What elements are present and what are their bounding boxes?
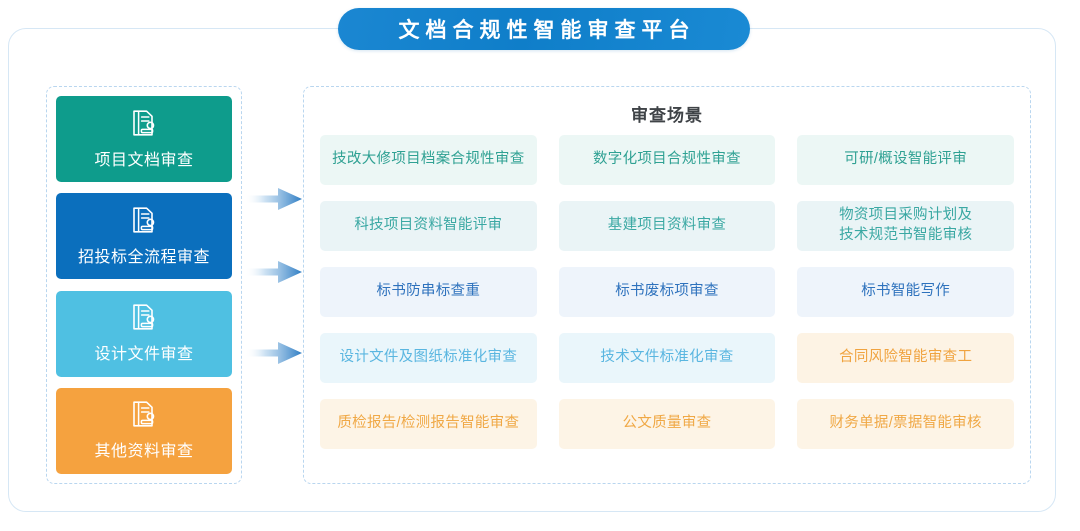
scene-cell-r1-c2[interactable]: 数字化项目合规性审查 [559, 135, 776, 185]
arrow-to-scenes-1 [245, 186, 303, 212]
scene-cell-r1-c3[interactable]: 可研/概设智能评审 [797, 135, 1014, 185]
category-card-3[interactable]: 设计文件审查 [56, 291, 232, 377]
scene-cell-label: 设计文件及图纸标准化审查 [340, 348, 518, 368]
document-review-icon [131, 303, 157, 336]
category-card-label: 招投标全流程审查 [78, 243, 210, 267]
scene-cell-r5-c2[interactable]: 公文质量审查 [559, 399, 776, 449]
category-card-label: 其他资料审查 [94, 437, 193, 461]
scene-cell-r2-c3[interactable]: 物资项目采购计划及 技术规范书智能审核 [797, 201, 1014, 251]
scene-cell-r2-c1[interactable]: 科技项目资料智能评审 [320, 201, 537, 251]
category-card-4[interactable]: 其他资料审查 [56, 388, 232, 474]
scene-cell-label: 科技项目资料智能评审 [354, 216, 502, 236]
scene-cell-r3-c3[interactable]: 标书智能写作 [797, 267, 1014, 317]
review-category-panel: 项目文档审查招投标全流程审查设计文件审查其他资料审查 [46, 86, 242, 484]
scene-grid: 技改大修项目档案合规性审查数字化项目合规性审查可研/概设智能评审科技项目资料智能… [320, 135, 1014, 449]
scene-panel-title: 审查场景 [320, 101, 1014, 126]
scene-cell-label: 合同风险智能审查工 [839, 348, 972, 368]
document-review-icon [131, 109, 157, 142]
category-card-label: 设计文件审查 [94, 340, 193, 364]
scene-cell-r5-c3[interactable]: 财务单据/票据智能审核 [797, 399, 1014, 449]
scene-cell-label: 标书废标项审查 [615, 282, 719, 302]
scene-cell-label: 标书防串标查重 [377, 282, 481, 302]
scene-cell-label: 技术文件标准化审查 [600, 348, 733, 368]
scene-cell-label: 数字化项目合规性审查 [593, 150, 741, 170]
scene-cell-r3-c1[interactable]: 标书防串标查重 [320, 267, 537, 317]
arrow-to-scenes-3 [245, 340, 303, 366]
document-review-icon [131, 206, 157, 239]
review-category-list: 项目文档审查招投标全流程审查设计文件审查其他资料审查 [47, 87, 241, 483]
scene-cell-r5-c1[interactable]: 质检报告/检测报告智能审查 [320, 399, 537, 449]
document-review-icon [131, 400, 157, 433]
scene-cell-r4-c3[interactable]: 合同风险智能审查工 [797, 333, 1014, 383]
scene-cell-label: 质检报告/检测报告智能审查 [337, 414, 519, 434]
scene-cell-label: 物资项目采购计划及 技术规范书智能审核 [839, 206, 972, 245]
scene-cell-label: 技改大修项目档案合规性审查 [332, 150, 524, 170]
category-card-label: 项目文档审查 [94, 146, 193, 170]
scene-cell-r4-c2[interactable]: 技术文件标准化审查 [559, 333, 776, 383]
scene-cell-label: 可研/概设智能评审 [844, 150, 967, 170]
scene-cell-label: 财务单据/票据智能审核 [830, 414, 982, 434]
scene-cell-r3-c2[interactable]: 标书废标项审查 [559, 267, 776, 317]
review-scene-panel: 审查场景 技改大修项目档案合规性审查数字化项目合规性审查可研/概设智能评审科技项… [303, 86, 1031, 484]
category-card-1[interactable]: 项目文档审查 [56, 96, 232, 182]
page-title: 文档合规性智能审查平台 [338, 8, 750, 50]
scene-cell-r1-c1[interactable]: 技改大修项目档案合规性审查 [320, 135, 537, 185]
scene-cell-label: 基建项目资料审查 [608, 216, 726, 236]
scene-cell-label: 公文质量审查 [623, 414, 712, 434]
arrow-to-scenes-2 [245, 259, 303, 285]
category-card-2[interactable]: 招投标全流程审查 [56, 193, 232, 279]
scene-cell-label: 标书智能写作 [861, 282, 950, 302]
scene-cell-r4-c1[interactable]: 设计文件及图纸标准化审查 [320, 333, 537, 383]
scene-cell-r2-c2[interactable]: 基建项目资料审查 [559, 201, 776, 251]
